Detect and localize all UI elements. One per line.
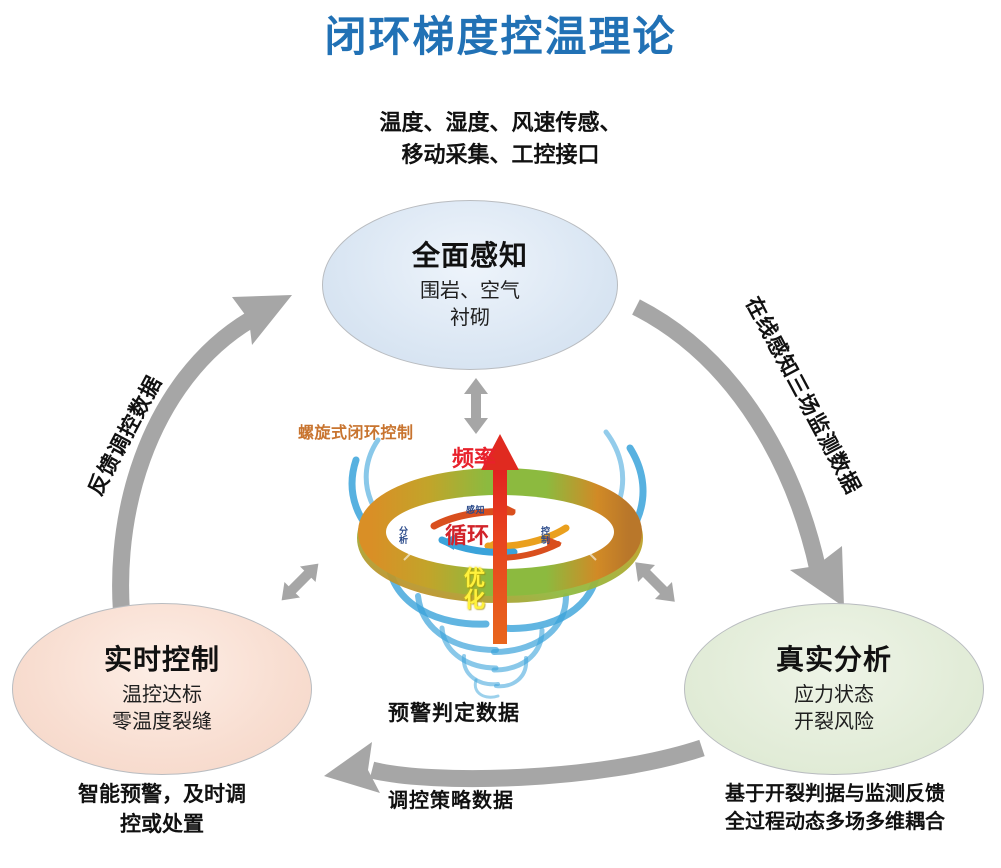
spiral-closed-loop-graphic	[330, 400, 670, 700]
ring-tag-control: 控制	[541, 527, 551, 546]
ring-tag-sense: 感知	[466, 503, 485, 516]
node-analysis-sub1: 应力状态	[794, 682, 874, 708]
caption-analysis-line1: 基于开裂判据与监测反馈	[676, 780, 994, 808]
node-true-analysis[interactable]: 真实分析 应力状态 开裂风险	[684, 603, 984, 775]
node-control-sub1: 温控达标	[112, 682, 212, 708]
node-sense-subtitle: 围岩、空气 衬砌	[420, 278, 520, 331]
node-sense-sub1: 围岩、空气	[420, 278, 520, 304]
caption-control-summary: 智能预警，及时调 控或处置	[6, 780, 318, 840]
caption-analysis-summary: 基于开裂判据与监测反馈 全过程动态多场多维耦合	[676, 780, 994, 837]
node-analysis-title: 真实分析	[776, 643, 892, 677]
caption-analysis-line2: 全过程动态多场多维耦合	[676, 808, 994, 836]
node-comprehensive-sensing[interactable]: 全面感知 围岩、空气 衬砌	[322, 200, 618, 370]
node-analysis-subtitle: 应力状态 开裂风险	[794, 682, 874, 735]
node-realtime-control[interactable]: 实时控制 温控达标 零温度裂缝	[12, 603, 312, 775]
double-arrow-lower-left	[274, 556, 326, 608]
arrow-feedback	[121, 295, 292, 650]
node-control-subtitle: 温控达标 零温度裂缝	[112, 682, 212, 735]
arc-label-strategy-data: 调控策略数据	[388, 784, 514, 813]
node-sense-title: 全面感知	[412, 239, 528, 273]
node-analysis-sub2: 开裂风险	[794, 709, 874, 735]
arc-label-warning-data: 预警判定数据	[388, 697, 520, 727]
caption-control-line1: 智能预警，及时调	[6, 780, 318, 810]
node-control-title: 实时控制	[104, 643, 220, 677]
node-sense-sub2: 衬砌	[420, 305, 520, 331]
diagram-canvas: 闭环梯度控温理论 温度、湿度、风速传感、 移动采集、工控接口	[0, 0, 1001, 868]
ring-tag-analyze: 分析	[399, 527, 409, 546]
node-control-sub2: 零温度裂缝	[112, 709, 212, 735]
caption-control-line2: 控或处置	[6, 810, 318, 840]
